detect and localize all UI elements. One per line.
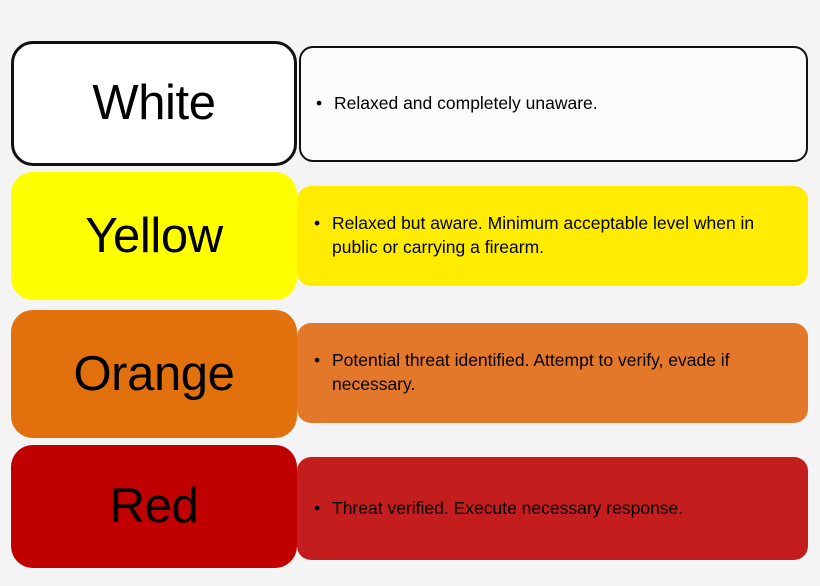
bullet-icon: • [316,92,322,116]
description-list-yellow: • Relaxed but aware. Minimum acceptable … [311,212,794,259]
level-description-box-yellow[interactable]: • Relaxed but aware. Minimum acceptable … [297,186,808,286]
bullet-icon: • [314,212,320,236]
level-label-red: Red [110,482,199,531]
description-text: Potential threat identified. Attempt to … [332,350,730,394]
description-text: Threat verified. Execute necessary respo… [332,498,683,518]
level-description-box-orange[interactable]: • Potential threat identified. Attempt t… [297,323,808,423]
description-list-white: • Relaxed and completely unaware. [313,92,794,116]
level-description-box-red[interactable]: • Threat verified. Execute necessary res… [297,457,808,560]
level-label-box-white[interactable]: White [11,41,297,166]
list-item: • Potential threat identified. Attempt t… [311,349,794,396]
level-row-red: Red • Threat verified. Execute necessary… [0,445,820,586]
level-row-orange: Orange • Potential threat identified. At… [0,310,820,445]
level-label-orange: Orange [73,350,234,399]
description-text: Relaxed and completely unaware. [334,93,598,113]
description-list-orange: • Potential threat identified. Attempt t… [311,349,794,396]
level-label-yellow: Yellow [85,212,222,261]
list-item: • Relaxed and completely unaware. [313,92,794,116]
list-item: • Threat verified. Execute necessary res… [311,497,794,521]
list-item: • Relaxed but aware. Minimum acceptable … [311,212,794,259]
level-label-box-yellow[interactable]: Yellow [11,172,297,300]
bullet-icon: • [314,497,320,521]
level-row-yellow: Yellow • Relaxed but aware. Minimum acce… [0,172,820,310]
level-label-box-orange[interactable]: Orange [11,310,297,438]
description-text: Relaxed but aware. Minimum acceptable le… [332,213,754,257]
description-list-red: • Threat verified. Execute necessary res… [311,497,794,521]
bullet-icon: • [314,349,320,373]
level-description-box-white[interactable]: • Relaxed and completely unaware. [299,46,808,162]
awareness-levels-diagram: White • Relaxed and completely unaware. … [0,0,820,586]
level-label-box-red[interactable]: Red [11,445,297,568]
level-label-white: White [92,79,215,128]
level-row-white: White • Relaxed and completely unaware. [0,0,820,172]
